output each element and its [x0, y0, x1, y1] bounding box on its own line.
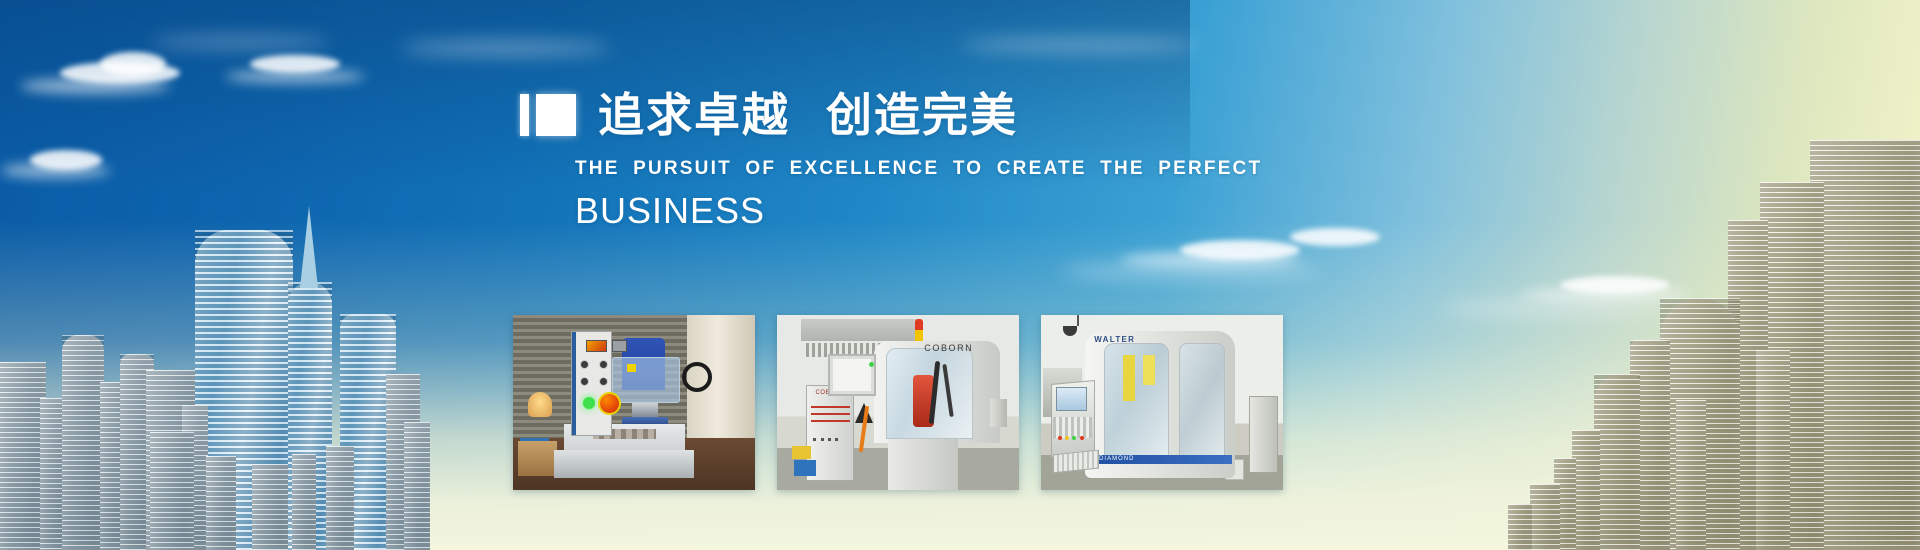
photo3-band-text: DIAMOND: [1099, 456, 1162, 462]
logo-square-shape: [536, 94, 576, 136]
subtitle-english: THE PURSUIT OF EXCELLENCE TO CREATE THE …: [575, 158, 1262, 180]
photo2-brand-text: COBORN: [913, 343, 986, 353]
bar-square-logo-icon: [520, 94, 576, 136]
business-word: BUSINESS: [575, 190, 1262, 232]
hero-banner: 追求卓越 创造完美 THE PURSUIT OF EXCELLENCE TO C…: [0, 0, 1920, 550]
photo-coborn-grinding-machine[interactable]: COBORN COBORN: [777, 315, 1019, 490]
logo-bar-shape: [520, 94, 529, 136]
photo-cnc-spindle-machine[interactable]: [513, 315, 755, 490]
banner-copy-block: 追求卓越 创造完美 THE PURSUIT OF EXCELLENCE TO C…: [520, 92, 1262, 232]
photo-walter-tool-grinder[interactable]: WALTER DIAMOND: [1041, 315, 1283, 490]
headline-row: 追求卓越 创造完美: [520, 92, 1262, 138]
machine-photo-strip: COBORN COBORN: [513, 315, 1283, 490]
headline-chinese: 追求卓越 创造完美: [598, 92, 1018, 138]
photo3-brand-text: WALTER: [1094, 335, 1167, 344]
